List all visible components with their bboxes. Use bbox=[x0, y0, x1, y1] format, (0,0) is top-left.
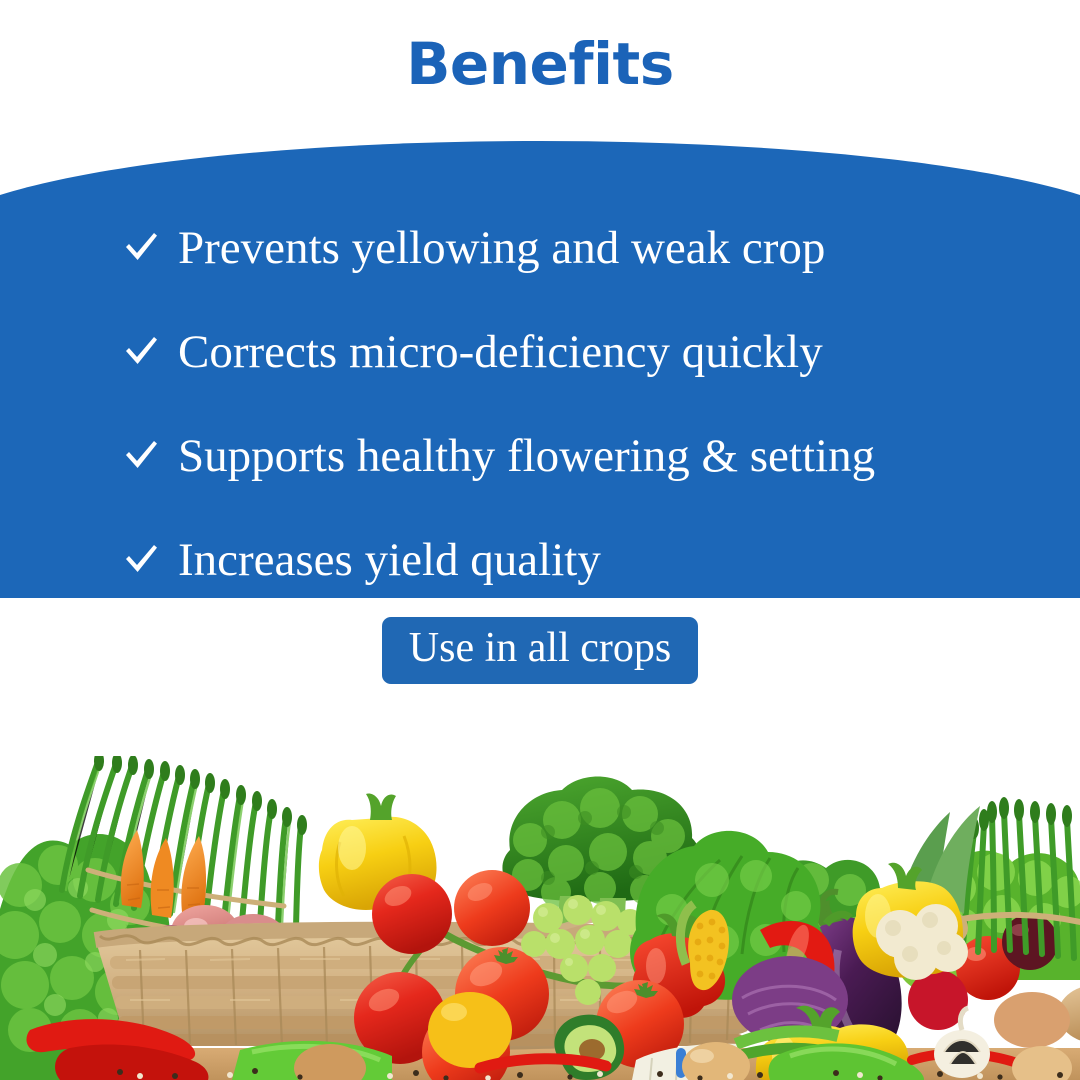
check-icon bbox=[124, 228, 158, 268]
list-item-label: Prevents yellowing and weak crop bbox=[178, 225, 825, 272]
list-item: Corrects micro-deficiency quickly bbox=[0, 300, 1080, 404]
check-icon bbox=[124, 332, 158, 372]
carrots-in-basket bbox=[121, 830, 206, 918]
badge-row: Use in all crops bbox=[0, 598, 1080, 703]
list-item-label: Increases yield quality bbox=[178, 537, 601, 584]
title-bar: Benefits bbox=[0, 0, 1080, 128]
benefits-list: Prevents yellowing and weak crop Correct… bbox=[0, 110, 1080, 598]
infographic-page: Benefits Prevents yellowing and weak cro… bbox=[0, 0, 1080, 1080]
check-icon bbox=[124, 436, 158, 476]
list-item: Supports healthy flowering & setting bbox=[0, 404, 1080, 508]
list-item-label: Supports healthy flowering & setting bbox=[178, 433, 875, 480]
yellow-squash bbox=[428, 992, 512, 1068]
page-title: Benefits bbox=[406, 35, 674, 93]
list-item: Prevents yellowing and weak crop bbox=[0, 196, 1080, 300]
use-in-all-crops-badge[interactable]: Use in all crops bbox=[382, 617, 698, 683]
check-icon bbox=[124, 540, 158, 580]
list-item: Increases yield quality bbox=[0, 508, 1080, 612]
vegetables-photo bbox=[0, 700, 1080, 1080]
list-item-label: Corrects micro-deficiency quickly bbox=[178, 329, 823, 376]
